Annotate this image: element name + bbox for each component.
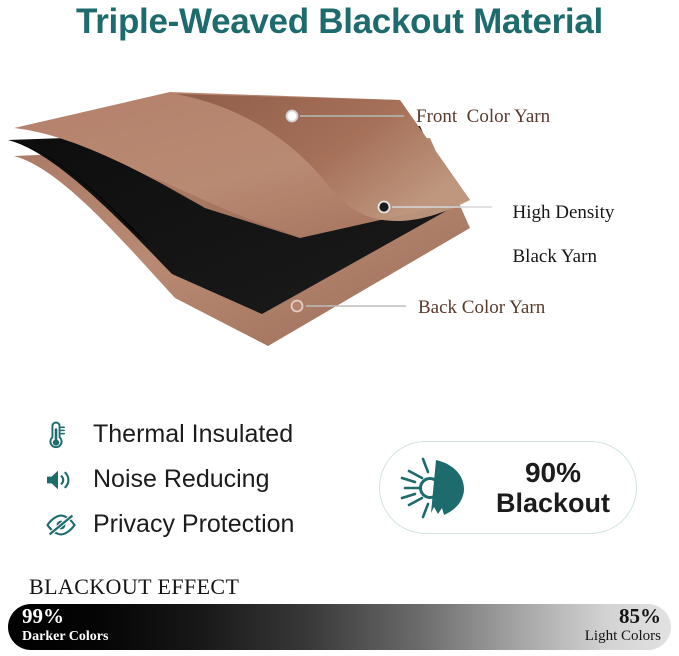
gradient-bar-right-labels: 85% Light Colors xyxy=(585,605,661,645)
blackout-badge: 90% Blackout xyxy=(379,441,637,534)
feature-row-noise-reducing: Noise Reducing xyxy=(45,457,365,502)
blackout-percent: 90% xyxy=(478,458,628,488)
darker-colors-percent: 99% xyxy=(22,605,108,628)
blackout-effect-title: BLACKOUT EFFECT xyxy=(29,574,239,600)
callout-label-front: Front Color Yarn xyxy=(416,106,550,128)
callout-label-middle-line2: Black Yarn xyxy=(513,246,597,267)
callout-label-middle: High Density Black Yarn xyxy=(503,180,614,268)
feature-row-privacy-protection: Privacy Protection xyxy=(45,502,365,547)
light-colors-caption: Light Colors xyxy=(585,628,661,645)
feature-label-privacy-protection: Privacy Protection xyxy=(93,510,294,539)
blackout-badge-text: 90% Blackout xyxy=(478,458,636,518)
thermometer-icon xyxy=(45,418,83,452)
callout-dot-icon xyxy=(379,202,390,213)
darker-colors-caption: Darker Colors xyxy=(22,628,108,645)
feature-label-thermal-insulated: Thermal Insulated xyxy=(93,420,293,449)
light-colors-percent: 85% xyxy=(585,605,661,628)
callout-dot-icon xyxy=(287,111,298,122)
callout-dot-icon xyxy=(292,301,303,312)
blackout-word: Blackout xyxy=(478,488,628,518)
sun-blocked-by-curtain-icon xyxy=(394,453,478,523)
eye-slash-icon xyxy=(45,508,83,542)
feature-list: Thermal Insulated Noise Reducing Privacy… xyxy=(45,412,365,547)
gradient-bar-left-labels: 99% Darker Colors xyxy=(22,605,108,645)
page-title: Triple-Weaved Blackout Material xyxy=(0,2,679,42)
speaker-sound-icon xyxy=(45,463,83,497)
feature-label-noise-reducing: Noise Reducing xyxy=(93,465,270,494)
callout-label-middle-line1: High Density xyxy=(513,202,615,223)
feature-row-thermal-insulated: Thermal Insulated xyxy=(45,412,365,457)
callout-label-back: Back Color Yarn xyxy=(418,297,545,319)
